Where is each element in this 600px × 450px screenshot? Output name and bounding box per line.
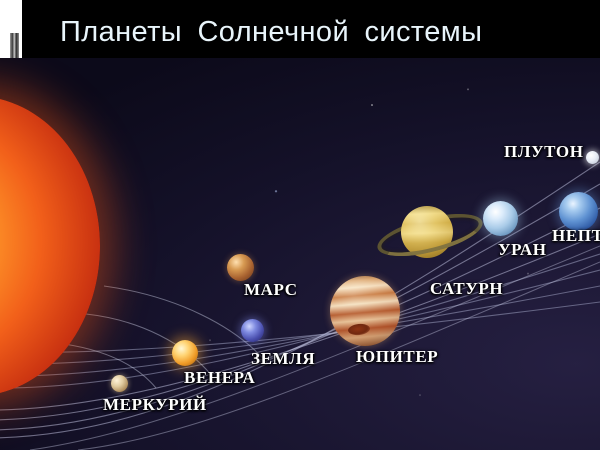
solar-system-image: МЕРКУРИЙ ВЕНЕРА ЗЕМЛЯ МАРС ЮПИТЕР САТУРН… <box>0 58 600 450</box>
planet-jupiter <box>330 276 400 346</box>
label-jupiter: ЮПИТЕР <box>356 348 438 365</box>
label-venus: ВЕНЕРА <box>184 369 255 386</box>
label-saturn: САТУРН <box>430 280 503 297</box>
planet-pluto <box>586 151 599 164</box>
label-mars: МАРС <box>244 281 298 298</box>
page-title: Планеты Солнечной системы <box>60 18 482 47</box>
planet-venus <box>172 340 198 366</box>
slide-accent-bar-icon <box>10 33 19 58</box>
label-pluto: ПЛУТОН <box>504 143 584 160</box>
slide: Планеты Солнечной системы <box>0 0 600 450</box>
planet-uranus <box>483 201 518 236</box>
label-uranus: УРАН <box>498 241 547 258</box>
label-mercury: МЕРКУРИЙ <box>103 396 207 413</box>
label-neptune: НЕПТ <box>552 227 600 244</box>
planet-mars <box>227 254 254 281</box>
planet-mercury <box>111 375 128 392</box>
planet-saturn <box>378 188 474 280</box>
label-earth: ЗЕМЛЯ <box>251 350 315 367</box>
title-bar: Планеты Солнечной системы <box>22 0 600 58</box>
planet-earth <box>241 319 264 342</box>
